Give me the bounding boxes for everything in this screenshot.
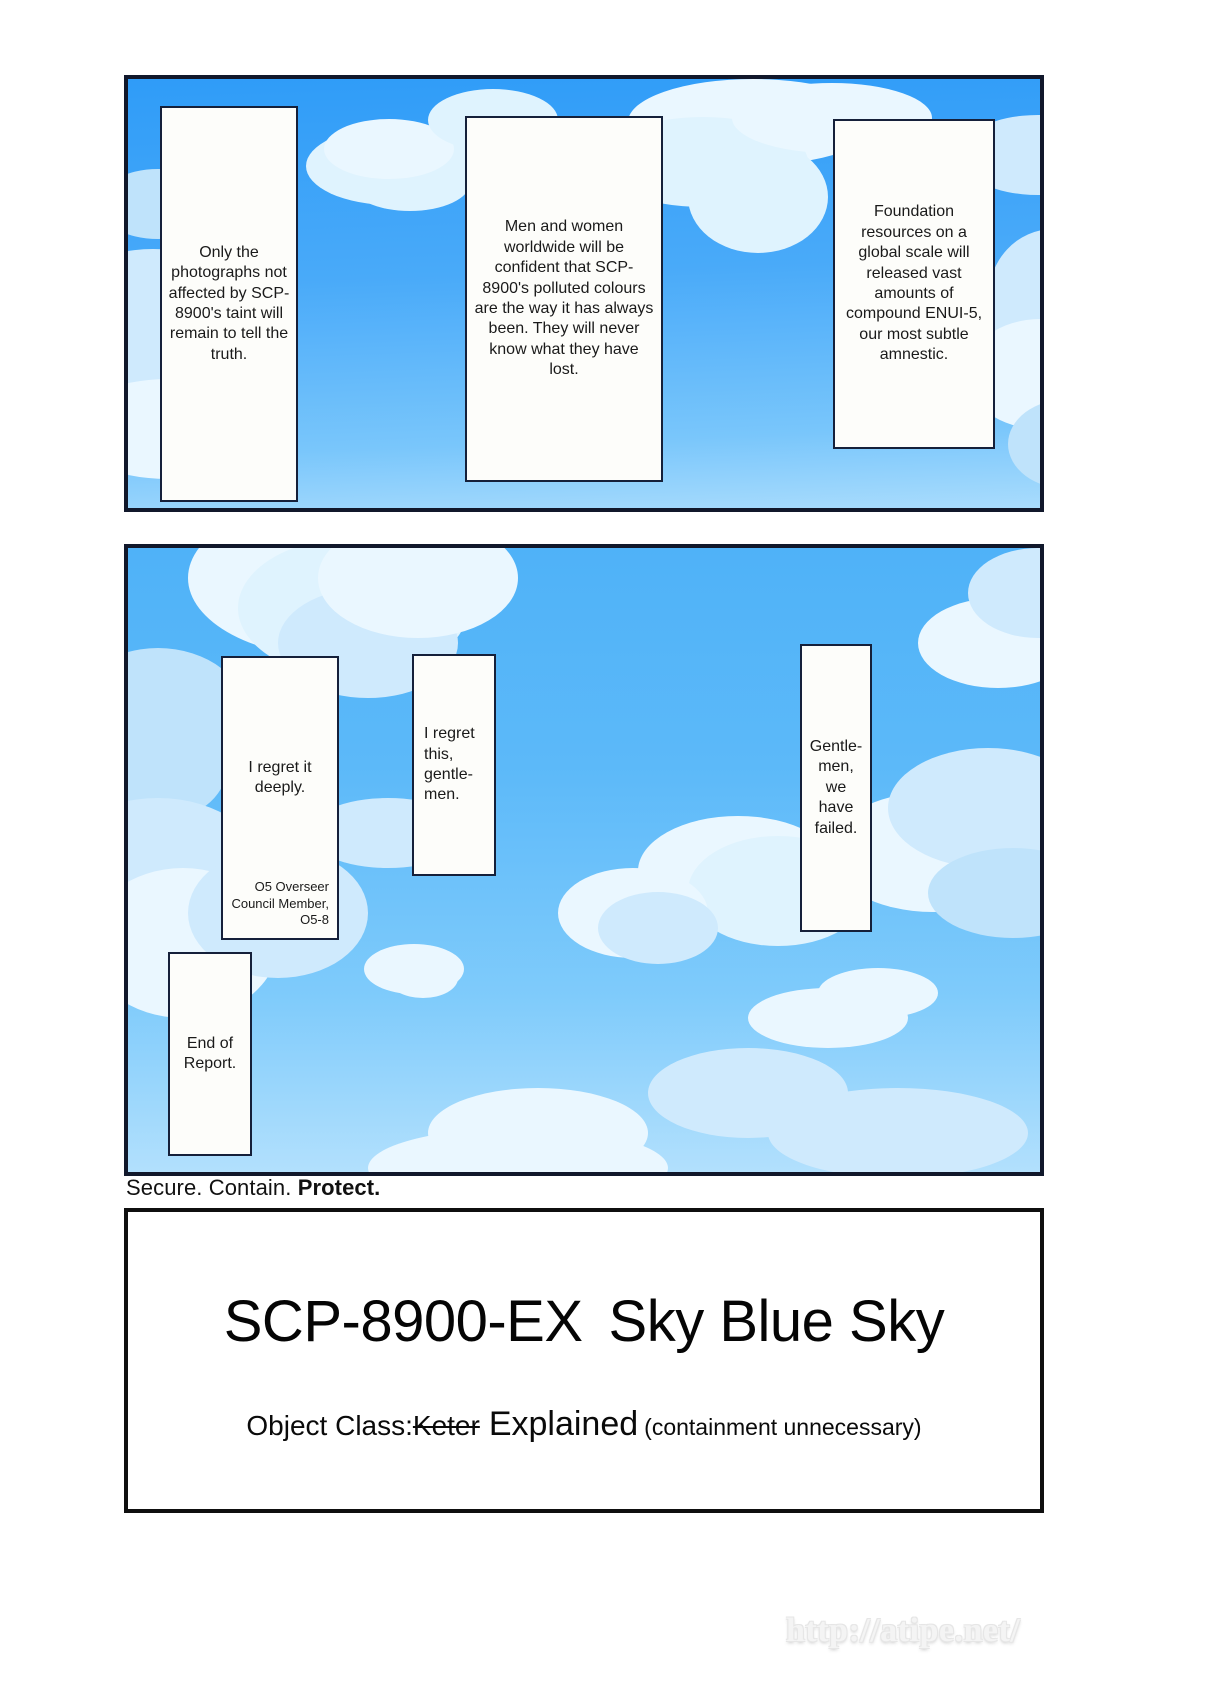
caption-signature: O5 Overseer Council Member, O5-8 xyxy=(223,879,337,928)
tagline-bold: Protect. xyxy=(298,1175,381,1200)
cloud-shape xyxy=(688,141,828,253)
tagline-plain: Secure. Contain. xyxy=(126,1175,298,1200)
object-class-label: Object Class: xyxy=(246,1410,413,1441)
foundation-tagline: Secure. Contain. Protect. xyxy=(126,1175,380,1201)
scp-designation: SCP-8900-EX xyxy=(224,1289,583,1354)
title-card: SCP-8900-EXSky Blue Sky Object Class:Ket… xyxy=(124,1208,1044,1513)
caption-text: Foundation resources on a global scale w… xyxy=(835,202,993,366)
page-title: SCP-8900-EXSky Blue Sky xyxy=(128,1288,1040,1355)
object-class-line: Object Class:KeterExplained(containment … xyxy=(128,1405,1040,1444)
caption-text: End of Report. xyxy=(170,1034,250,1075)
caption-box: End of Report. xyxy=(168,952,252,1156)
caption-box: I regret it deeply. O5 Overseer Council … xyxy=(221,656,339,940)
caption-text: Only the photographs not affected by SCP… xyxy=(162,243,296,366)
comic-page: Only the photographs not affected by SCP… xyxy=(0,0,1208,1695)
comic-panel-lower: I regret it deeply. O5 Overseer Council … xyxy=(124,544,1044,1176)
caption-box: Men and women worldwide will be confiden… xyxy=(465,116,663,482)
site-watermark: http://atipe.net/ xyxy=(786,1612,1020,1650)
caption-text: I regret this, gentle-men. xyxy=(414,724,494,806)
caption-text: I regret it deeply. xyxy=(223,758,337,799)
cloud-shape xyxy=(598,892,718,964)
object-class-struck: Keter xyxy=(413,1410,480,1441)
caption-text: Gentle-men, we have failed. xyxy=(802,737,870,839)
object-class-value: Explained xyxy=(489,1405,638,1443)
caption-box: Gentle-men, we have failed. xyxy=(800,644,872,932)
comic-panel-upper: Only the photographs not affected by SCP… xyxy=(124,75,1044,512)
caption-box: Only the photographs not affected by SCP… xyxy=(160,106,298,502)
cloud-shape xyxy=(818,968,938,1018)
caption-text: Men and women worldwide will be confiden… xyxy=(467,217,661,381)
scp-name: Sky Blue Sky xyxy=(609,1289,945,1354)
cloud-shape xyxy=(768,1088,1028,1176)
caption-box: Foundation resources on a global scale w… xyxy=(833,119,995,449)
caption-box: I regret this, gentle-men. xyxy=(412,654,496,876)
cloud-shape xyxy=(388,958,458,998)
object-class-note: (containment unnecessary) xyxy=(644,1414,921,1440)
